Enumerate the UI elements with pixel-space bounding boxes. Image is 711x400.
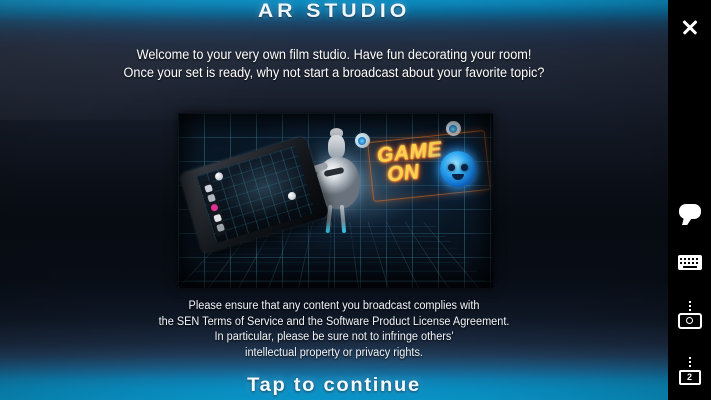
close-icon xyxy=(681,18,699,36)
keyboard-row xyxy=(680,258,700,260)
player-signal-lines xyxy=(689,357,691,367)
player-number-label: 2 xyxy=(679,370,701,385)
right-sidebar: 2 xyxy=(668,0,711,400)
keyboard-row xyxy=(680,262,700,264)
neon-sign-game-on: GAME ON xyxy=(376,140,445,186)
chat-bubble-icon xyxy=(679,204,701,219)
robot-head xyxy=(328,135,345,159)
sidebar-item-keyboard[interactable] xyxy=(668,250,711,274)
sidebar-item-camera[interactable] xyxy=(668,300,711,330)
main-content-panel: AR STUDIO Welcome to your very own film … xyxy=(0,0,668,400)
sidebar-item-player-number[interactable]: 2 xyxy=(668,355,711,387)
camera-signal-lines xyxy=(689,301,691,311)
legal-line-3: In particular, please be sure not to inf… xyxy=(17,330,652,346)
ar-studio-screen: AR STUDIO Welcome to your very own film … xyxy=(0,0,711,400)
tool-icon xyxy=(207,194,216,203)
camera-icon xyxy=(678,301,702,329)
tool-icon xyxy=(210,203,219,212)
tap-to-continue-button[interactable]: Tap to continue xyxy=(0,375,668,397)
legal-notice: Please ensure that any content you broad… xyxy=(17,299,652,361)
tool-icon xyxy=(213,214,222,223)
keyboard-spacebar xyxy=(683,266,697,268)
camera-lens xyxy=(686,317,693,324)
tool-icon xyxy=(216,223,225,232)
neon-face-eye xyxy=(461,164,468,171)
welcome-line-2: Once your set is ready, why not start a … xyxy=(20,64,648,82)
neon-face-mouth xyxy=(452,174,464,180)
legal-line-2: the SEN Terms of Service and the Softwar… xyxy=(17,315,652,331)
neon-face-eye xyxy=(448,164,455,171)
sidebar-item-close[interactable] xyxy=(668,14,711,40)
neon-face-icon xyxy=(440,151,476,187)
welcome-line-1: Welcome to your very own film studio. Ha… xyxy=(20,46,648,64)
legal-line-1: Please ensure that any content you broad… xyxy=(17,299,652,315)
tool-icon xyxy=(204,184,213,193)
keyboard-icon xyxy=(678,255,702,270)
legal-line-4: intellectual property or privacy rights. xyxy=(17,346,652,362)
page-title: AR STUDIO xyxy=(0,1,668,23)
hero-image: GAME ON GAME ON xyxy=(178,113,493,288)
welcome-message: Welcome to your very own film studio. Ha… xyxy=(20,46,648,82)
player-number-icon: 2 xyxy=(678,357,702,385)
sidebar-item-chat[interactable] xyxy=(668,198,711,224)
